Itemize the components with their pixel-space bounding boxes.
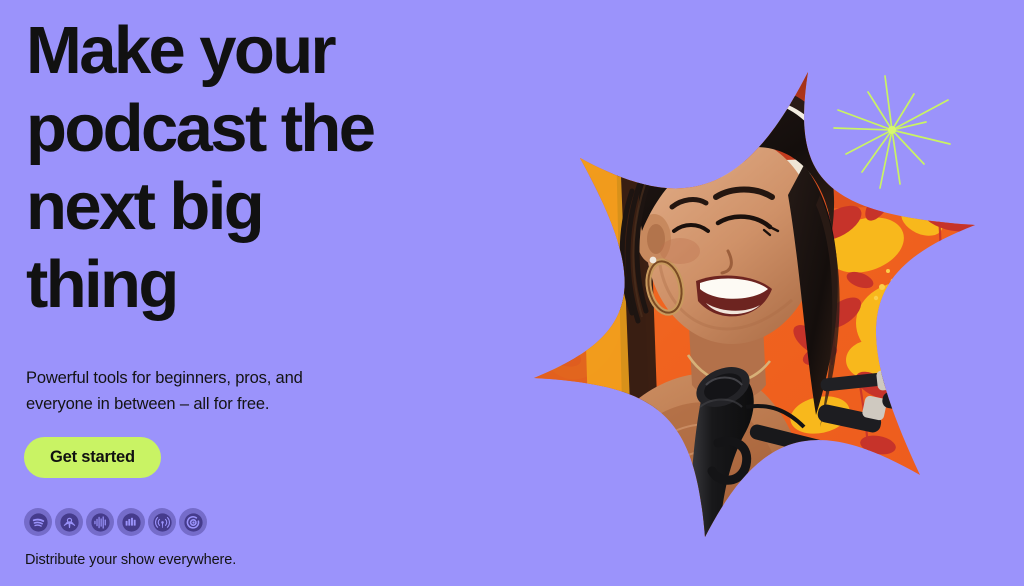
page-title: Make your podcast the next big thing (26, 12, 486, 324)
overcast-icon[interactable] (86, 508, 114, 536)
pocket-casts-icon[interactable] (117, 508, 145, 536)
castbox-icon[interactable] (148, 508, 176, 536)
apple-podcasts-icon[interactable] (55, 508, 83, 536)
hero-copy: Make your podcast the next big thing (26, 12, 486, 324)
spotify-icon[interactable] (24, 508, 52, 536)
hero-subheadline: Powerful tools for beginners, pros, and … (26, 365, 356, 417)
get-started-button[interactable]: Get started (24, 437, 161, 478)
hero-section: Make your podcast the next big thing Pow… (0, 0, 1024, 586)
platform-icon-list (24, 508, 207, 536)
podcaster-star-photo (520, 55, 1000, 545)
distribute-caption: Distribute your show everywhere. (25, 550, 236, 570)
podcast-addict-icon[interactable] (179, 508, 207, 536)
